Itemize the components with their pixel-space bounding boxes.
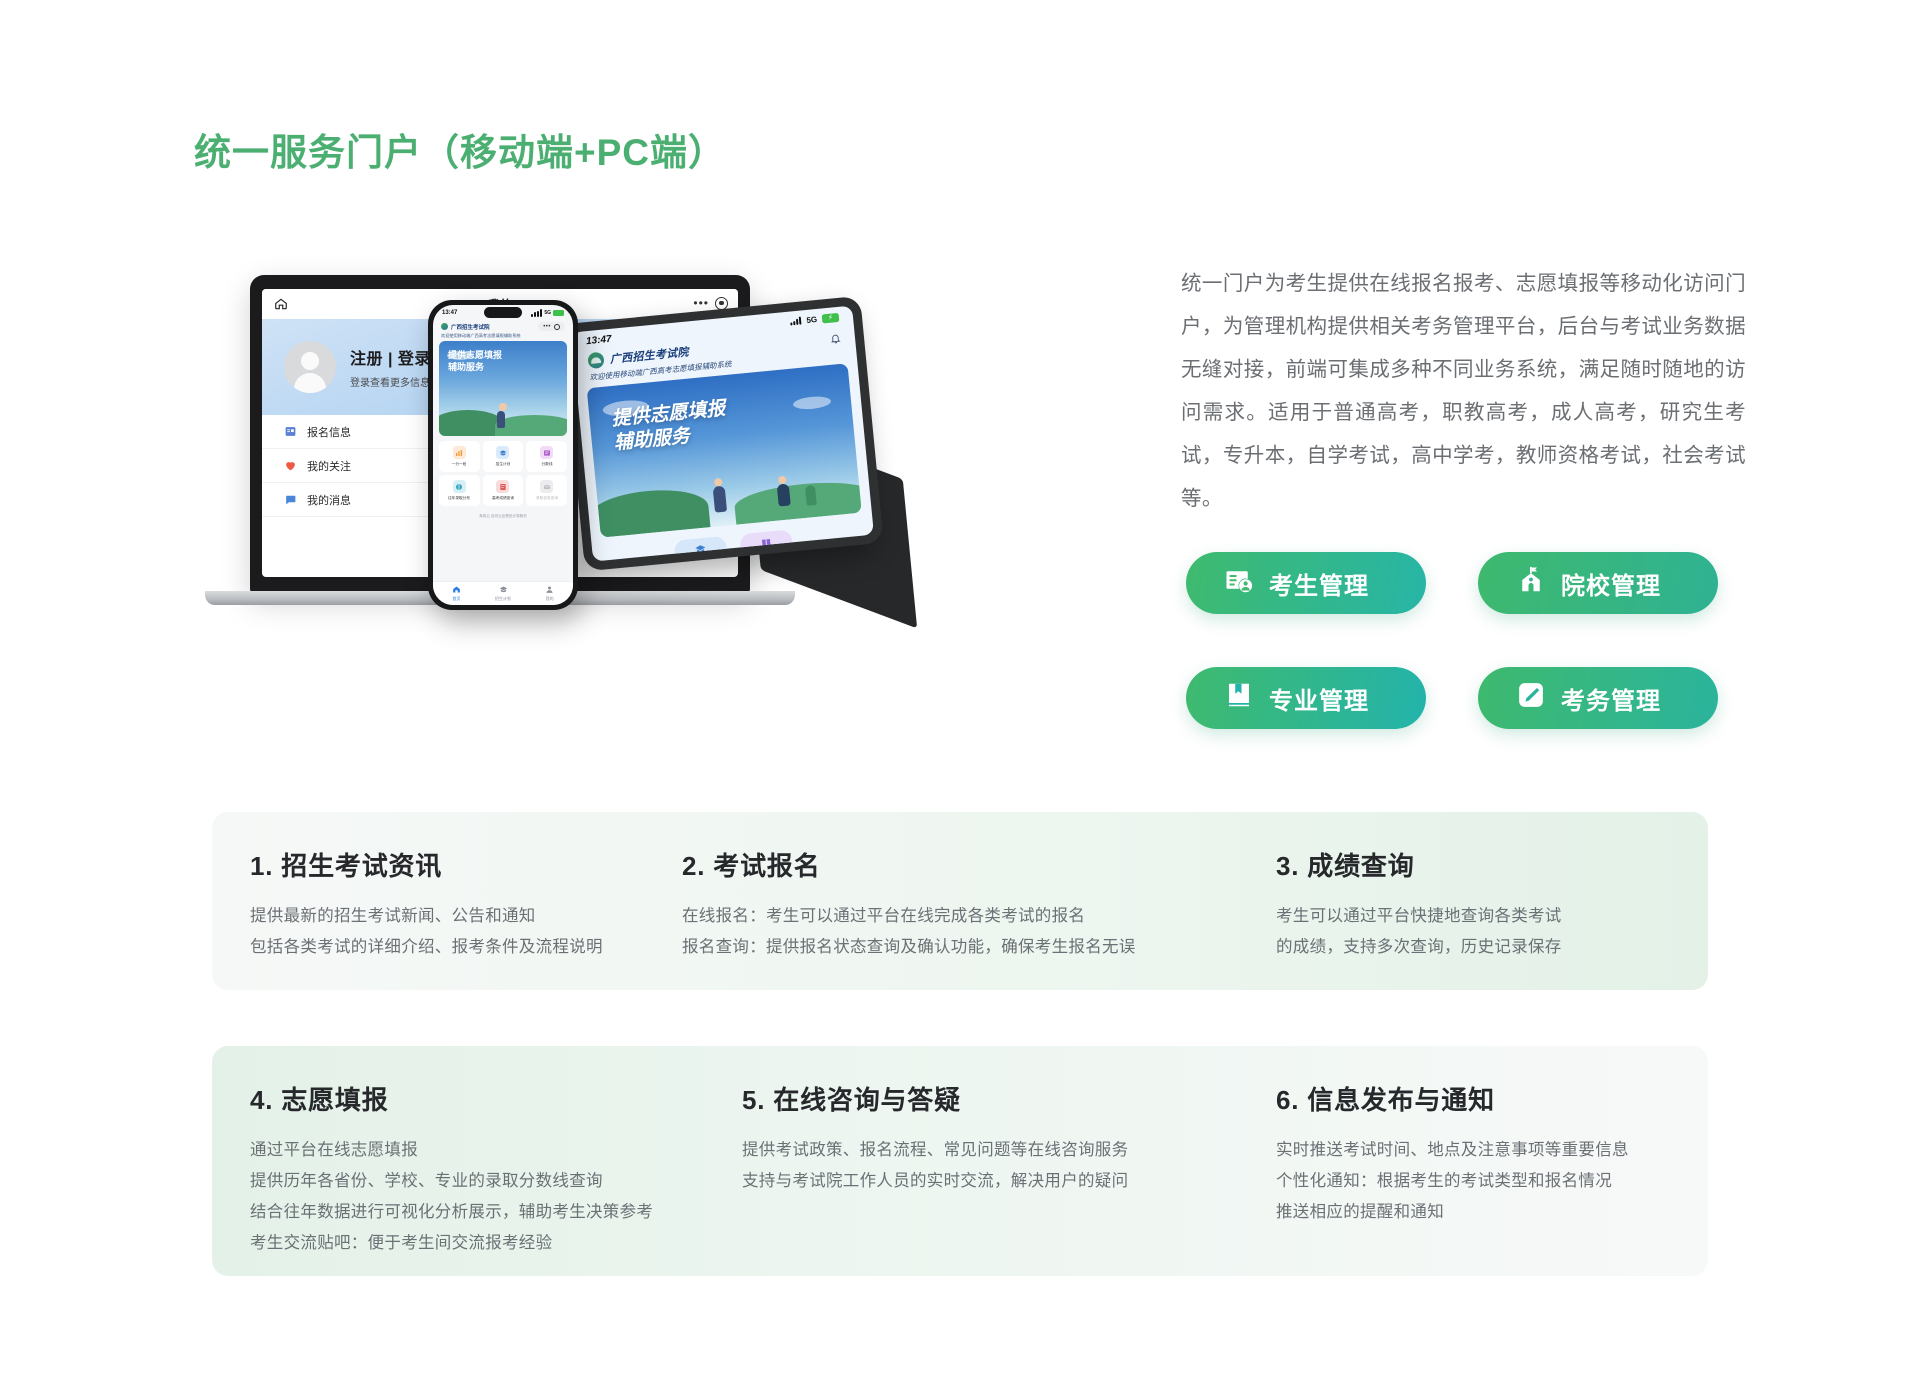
- feature-card-3: 3. 成绩查询 考生可以通过平台快捷地查询各类考试 的成绩，支持多次查询，历史记…: [1276, 812, 1708, 990]
- app-tile-label: 分数线: [541, 461, 552, 467]
- feature-card-line: 考生交流贴吧：便于考生间交流报考经验: [250, 1228, 742, 1259]
- tablet-body: 13:47 5G ⚡ 广西招生考试院 欢迎使: [561, 296, 883, 572]
- battery-icon: [553, 310, 564, 316]
- page-root: 统一服务门户（移动端+PC端） 我的 •••: [0, 0, 1920, 1392]
- app-tile-admission-info: 录取信息查询: [526, 475, 567, 506]
- nav-item-label: 我的: [546, 596, 554, 602]
- network-label: 5G: [544, 310, 551, 316]
- distribution-icon: [453, 480, 466, 493]
- feature-card-line: 提供最新的招生考试新闻、公告和通知: [250, 901, 682, 932]
- phone-top-bar: 广西招生考试院 •••: [433, 320, 573, 333]
- id-card-user-icon: [1224, 565, 1254, 602]
- feature-card-line: 个性化通知：根据考生的考试类型和报名情况: [1276, 1166, 1708, 1197]
- bell-icon[interactable]: [829, 331, 841, 343]
- phone-brand: 广西招生考试院: [441, 323, 490, 331]
- nav-item-label: 招生计划: [495, 596, 511, 602]
- envelope-icon: [540, 480, 553, 493]
- nav-item-admission-plan[interactable]: 招生计划: [480, 582, 527, 605]
- feature-card-line: 提供考试政策、报名流程、常见问题等在线咨询服务: [742, 1135, 1276, 1166]
- button-label: 考务管理: [1561, 681, 1661, 716]
- message-icon: [284, 493, 297, 506]
- app-tile-label: 录取信息查询: [536, 495, 558, 501]
- feature-card-line: 报名查询：提供报名状态查询及确认功能，确保考生报名无误: [682, 932, 1276, 963]
- feature-card-line: 在线报名：考生可以通过平台在线完成各类考试的报名: [682, 901, 1276, 932]
- avatar[interactable]: [284, 341, 336, 393]
- close-circle-icon[interactable]: [554, 324, 560, 330]
- feature-card-6: 6. 信息发布与通知 实时推送考试时间、地点及注意事项等重要信息 个性化通知：根…: [1276, 1046, 1708, 1276]
- phone-app-grid: 一分一段 招生计划 分数线: [433, 436, 573, 506]
- feature-card-line: 推送相应的提醒和通知: [1276, 1197, 1708, 1228]
- feature-card-line: 包括各类考试的详细介绍、报考条件及流程说明: [250, 932, 682, 963]
- feature-card-heading: 3. 成绩查询: [1276, 846, 1708, 883]
- more-dots-icon[interactable]: •••: [693, 296, 709, 310]
- report-icon: [496, 480, 509, 493]
- button-candidate-management[interactable]: 考生管理: [1186, 552, 1426, 614]
- app-tile-label: 招生计划: [496, 461, 511, 467]
- phone-bottom-nav: 首页 招生计划 我的: [433, 581, 573, 605]
- graduation-cap-icon: [499, 585, 508, 594]
- phone-footnote: 粤政云 自然云此是统计算服务: [433, 514, 573, 519]
- button-major-management[interactable]: 专业管理: [1186, 667, 1426, 729]
- banner-line-2: 辅助服务: [448, 362, 502, 374]
- signal-icon: [790, 316, 802, 325]
- feature-card-line: 考生可以通过平台快捷地查询各类考试: [1276, 901, 1708, 932]
- tablet-banner: 提供志愿填报 辅助服务: [587, 363, 862, 537]
- feature-card-line: 实时推送考试时间、地点及注意事项等重要信息: [1276, 1135, 1708, 1166]
- score-line-icon: [540, 446, 553, 459]
- nav-item-mine[interactable]: 我的: [526, 582, 573, 605]
- tablet-device: 13:47 5G ⚡ 广西招生考试院 欢迎使: [561, 293, 918, 623]
- feature-row-top: 1. 招生考试资讯 提供最新的招生考试新闻、公告和通知 包括各类考试的详细介绍、…: [212, 812, 1708, 990]
- feature-card-line: 的成绩，支持多次查询，历史记录保存: [1276, 932, 1708, 963]
- tablet-clock: 13:47: [586, 333, 613, 346]
- heart-icon: [284, 459, 297, 472]
- feature-card-line: 通过平台在线志愿填报: [250, 1135, 742, 1166]
- feature-card-1: 1. 招生考试资讯 提供最新的招生考试新闻、公告和通知 包括各类考试的详细介绍、…: [212, 812, 682, 990]
- quick-action-plan[interactable]: [674, 536, 728, 562]
- phone-status-bar: 13:47 5G: [433, 305, 573, 320]
- feature-card-4: 4. 志愿填报 通过平台在线志愿填报 提供历年各省份、学校、专业的录取分数线查询…: [212, 1046, 742, 1276]
- network-label: 5G: [806, 314, 817, 324]
- phone-notch: [484, 307, 522, 318]
- banner-line-1: 提供志愿填报: [448, 350, 502, 362]
- target-circle-icon[interactable]: [715, 297, 728, 310]
- portal-description: 统一门户为考生提供在线报名报考、志愿填报等移动化访问门户，为管理机构提供相关考务…: [1181, 262, 1746, 520]
- profile-subtitle: 登录查看更多信息: [350, 374, 431, 389]
- button-institution-management[interactable]: 院校管理: [1478, 552, 1718, 614]
- menu-item-label: 我的关注: [307, 458, 351, 474]
- nav-item-label: 首页: [452, 596, 460, 602]
- app-tile-label: 一分一段: [452, 461, 467, 467]
- institute-logo-icon: [441, 323, 448, 330]
- tablet-screen: 13:47 5G ⚡ 广西招生考试院 欢迎使: [571, 306, 874, 562]
- app-tile-label: 高考成绩查询: [492, 495, 514, 501]
- menu-item-label: 报名信息: [307, 424, 351, 440]
- form-icon: [284, 425, 297, 438]
- app-tile-past-distribution[interactable]: 往年录取分布: [439, 475, 480, 506]
- button-label: 考生管理: [1269, 566, 1369, 601]
- feature-card-2: 2. 考试报名 在线报名：考生可以通过平台在线完成各类考试的报名 报名查询：提供…: [682, 812, 1276, 990]
- institute-logo-icon: [587, 352, 604, 369]
- page-title: 统一服务门户（移动端+PC端）: [194, 122, 726, 176]
- feature-card-line: 支持与考试院工作人员的实时交流，解决用户的疑问: [742, 1166, 1276, 1197]
- button-label: 院校管理: [1561, 566, 1661, 601]
- register-login-link[interactable]: 注册 | 登录: [350, 345, 431, 369]
- tablet-banner-title: 提供志愿填报 辅助服务: [611, 397, 729, 456]
- feature-card-heading: 1. 招生考试资讯: [250, 846, 682, 883]
- phone-welcome-text: 欢迎使用移动端广西高考志愿填报辅助系统: [433, 333, 573, 341]
- feature-card-heading: 5. 在线咨询与答疑: [742, 1080, 1276, 1117]
- device-showcase: 我的 ••• 注册 | 登录 登录查看更多信息: [170, 250, 1120, 700]
- app-tile-score-query[interactable]: 高考成绩查询: [483, 475, 524, 506]
- bar-chart-icon: [453, 446, 466, 459]
- signal-icon: [531, 309, 542, 317]
- graduation-cap-icon: [496, 446, 509, 459]
- button-exam-affairs-management[interactable]: 考务管理: [1478, 667, 1718, 729]
- phone-brand-name: 广西招生考试院: [451, 323, 490, 331]
- app-tile-score-line[interactable]: 分数线: [526, 441, 567, 472]
- app-tile-label: 往年录取分布: [448, 495, 470, 501]
- school-building-icon: [1516, 565, 1546, 602]
- menu-item-label: 我的消息: [307, 492, 351, 508]
- user-icon: [545, 585, 554, 594]
- app-tile-score-rank[interactable]: 一分一段: [439, 441, 480, 472]
- battery-icon: ⚡: [822, 312, 840, 323]
- phone-body: 13:47 5G 广西招生考试院 •••: [428, 300, 578, 610]
- nav-item-home[interactable]: 首页: [433, 582, 480, 605]
- more-dots-icon[interactable]: •••: [543, 324, 551, 330]
- management-button-grid: 考生管理 院校管理 专业管理: [1186, 552, 1718, 729]
- phone-device: 13:47 5G 广西招生考试院 •••: [428, 300, 578, 620]
- pencil-edit-icon: [1516, 680, 1546, 717]
- phone-screen: 13:47 5G 广西招生考试院 •••: [433, 305, 573, 605]
- feature-card-heading: 4. 志愿填报: [250, 1080, 742, 1117]
- phone-mini-program-controls[interactable]: •••: [538, 322, 565, 331]
- phone-banner-title: 提供志愿填报 辅助服务: [448, 350, 502, 373]
- feature-card-5: 5. 在线咨询与答疑 提供考试政策、报名流程、常见问题等在线咨询服务 支持与考试…: [742, 1046, 1276, 1276]
- home-icon: [452, 585, 461, 594]
- feature-card-line: 结合往年数据进行可视化分析展示，辅助考生决策参考: [250, 1197, 742, 1228]
- phone-clock: 13:47: [442, 310, 457, 316]
- button-label: 专业管理: [1269, 681, 1369, 716]
- phone-banner: 提供志愿填报 辅助服务: [439, 341, 567, 436]
- feature-card-heading: 6. 信息发布与通知: [1276, 1080, 1708, 1117]
- feature-row-bottom: 4. 志愿填报 通过平台在线志愿填报 提供历年各省份、学校、专业的录取分数线查询…: [212, 1046, 1708, 1276]
- app-tile-admission-plan[interactable]: 招生计划: [483, 441, 524, 472]
- feature-card-heading: 2. 考试报名: [682, 846, 1276, 883]
- book-icon: [1224, 680, 1254, 717]
- feature-card-line: 提供历年各省份、学校、专业的录取分数线查询: [250, 1166, 742, 1197]
